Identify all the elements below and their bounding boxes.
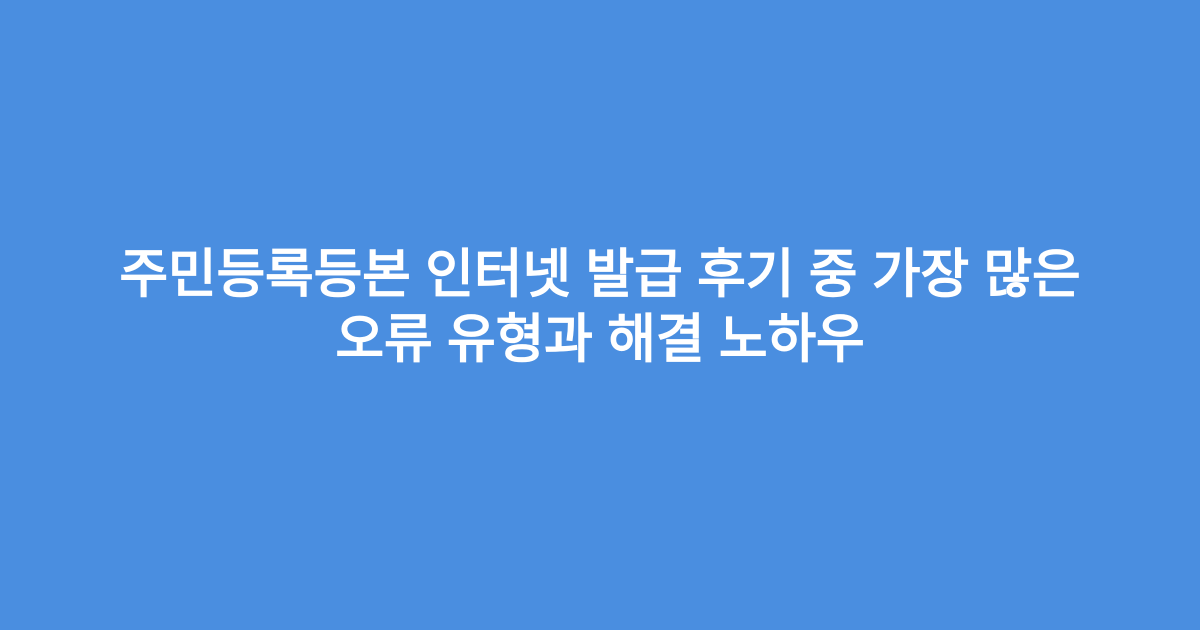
- banner-content: 주민등록등본 인터넷 발급 후기 중 가장 많은 오류 유형과 해결 노하우: [0, 242, 1200, 372]
- og-banner: 주민등록등본 인터넷 발급 후기 중 가장 많은 오류 유형과 해결 노하우: [0, 0, 1200, 630]
- banner-title: 주민등록등본 인터넷 발급 후기 중 가장 많은 오류 유형과 해결 노하우: [70, 242, 1130, 372]
